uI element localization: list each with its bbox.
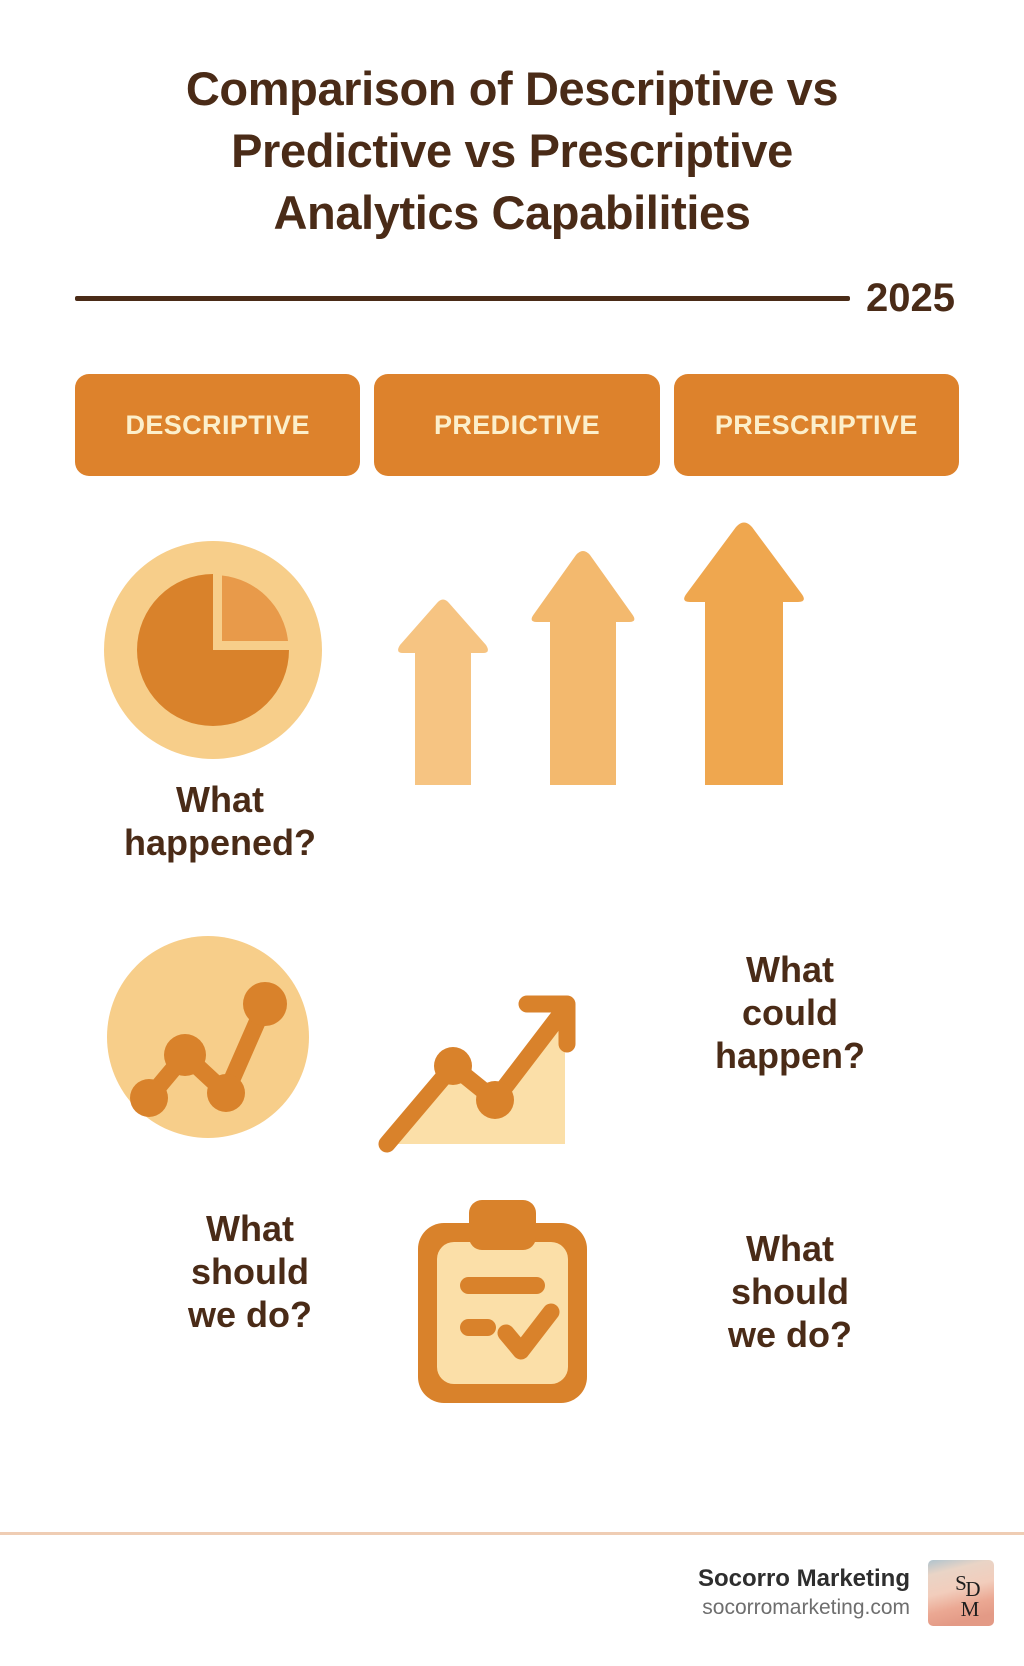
caption-could-line-1: What xyxy=(655,948,925,991)
caption-should-right-line-3: we do? xyxy=(650,1313,930,1356)
caption-happened-line-2: happened? xyxy=(70,821,370,864)
infographic-page: Comparison of Descriptive vs Predictive … xyxy=(0,0,1024,1666)
line-chart-icon xyxy=(103,930,313,1150)
brand-name: Socorro Marketing xyxy=(698,1564,910,1594)
caption-should-left-line-2: should xyxy=(110,1250,390,1293)
badge-descriptive-label: DESCRIPTIVE xyxy=(125,410,309,441)
caption-should-left-line-1: What xyxy=(110,1207,390,1250)
row-predictive: What could happen? xyxy=(0,930,1024,1190)
row-prescriptive: What should we do? What should we do? xyxy=(0,1195,1024,1425)
title-line-1: Comparison of Descriptive vs xyxy=(60,58,964,120)
badge-prescriptive-label: PRESCRIPTIVE xyxy=(715,410,918,441)
caption-could-line-3: happen? xyxy=(655,1034,925,1077)
row-descriptive: What happened? xyxy=(0,510,1024,890)
pie-chart-icon xyxy=(98,535,328,770)
page-title: Comparison of Descriptive vs Predictive … xyxy=(0,58,1024,244)
caption-should-right-line-1: What xyxy=(650,1227,930,1270)
brand-url[interactable]: socorromarketing.com xyxy=(698,1594,910,1621)
badge-prescriptive[interactable]: PRESCRIPTIVE xyxy=(674,374,959,476)
caption-what-should-we-do-left: What should we do? xyxy=(110,1207,390,1337)
svg-text:M: M xyxy=(961,1597,980,1621)
caption-should-left-line-3: we do? xyxy=(110,1293,390,1336)
title-line-3: Analytics Capabilities xyxy=(60,182,964,244)
clipboard-checklist-icon xyxy=(405,1195,600,1415)
year-label: 2025 xyxy=(866,276,955,321)
category-badge-row: DESCRIPTIVE PREDICTIVE PRESCRIPTIVE xyxy=(75,374,959,476)
caption-what-should-we-do-right: What should we do? xyxy=(650,1227,930,1357)
caption-happened-line-1: What xyxy=(70,778,370,821)
caption-could-line-2: could xyxy=(655,991,925,1034)
footer-divider xyxy=(0,1532,1024,1535)
horizontal-rule xyxy=(75,296,850,301)
brand-logo: S D M xyxy=(928,1560,994,1626)
caption-what-happened: What happened? xyxy=(70,778,370,864)
caption-should-right-line-2: should xyxy=(650,1270,930,1313)
footer-text-block: Socorro Marketing socorromarketing.com xyxy=(698,1564,910,1621)
badge-predictive-label: PREDICTIVE xyxy=(434,410,600,441)
area-chart-trend-icon xyxy=(375,948,590,1168)
footer: Socorro Marketing socorromarketing.com S… xyxy=(0,1560,1024,1626)
badge-descriptive[interactable]: DESCRIPTIVE xyxy=(75,374,360,476)
year-divider-row: 2025 xyxy=(75,276,955,321)
caption-what-could-happen: What could happen? xyxy=(655,948,925,1078)
title-line-2: Predictive vs Prescriptive xyxy=(60,120,964,182)
badge-predictive[interactable]: PREDICTIVE xyxy=(374,374,659,476)
ascending-arrows-icon xyxy=(395,510,845,780)
